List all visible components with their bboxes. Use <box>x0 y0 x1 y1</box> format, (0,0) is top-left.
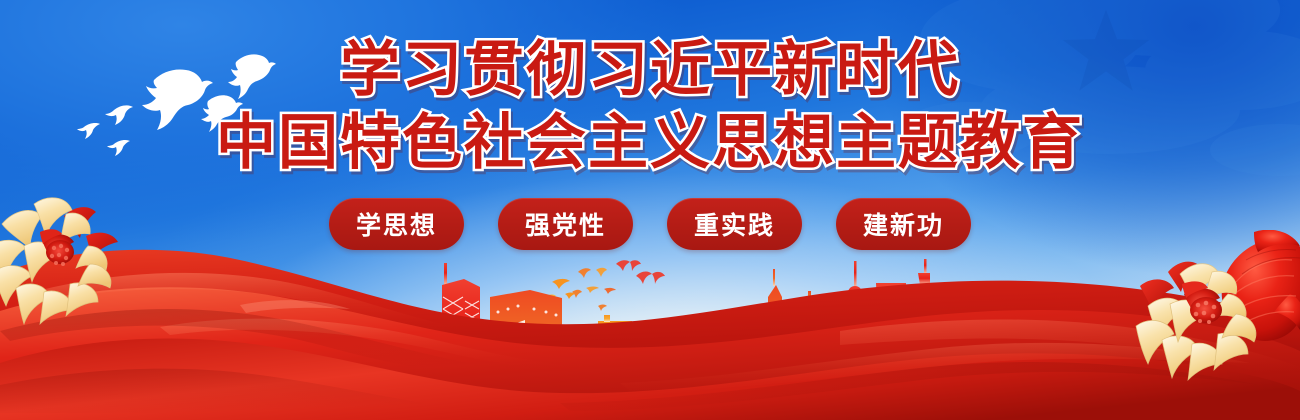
red-silk-drape <box>0 235 1300 420</box>
golden-peony-flower <box>0 188 145 328</box>
propaganda-banner: 学习贯彻习近平新时代 中国特色社会主义思想主题教育 学思想 强党性 重实践 建新… <box>0 0 1300 420</box>
title-line-2: 中国特色社会主义思想主题教育 <box>0 113 1300 174</box>
title-line-1: 学习贯彻习近平新时代 <box>0 40 1300 101</box>
golden-and-red-peony-flower <box>1126 230 1300 385</box>
banner-title: 学习贯彻习近平新时代 中国特色社会主义思想主题教育 <box>0 40 1300 174</box>
